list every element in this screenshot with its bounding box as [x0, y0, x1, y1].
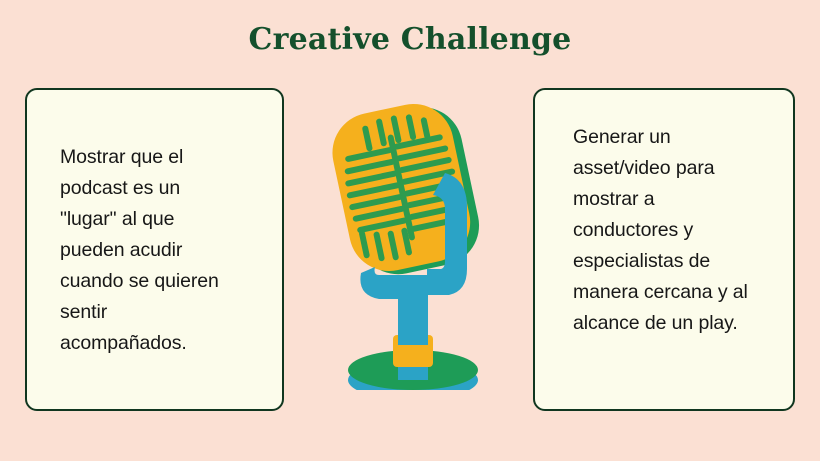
page-title: Creative Challenge [0, 22, 820, 57]
microphone-icon [325, 95, 500, 390]
challenge-card-right: Generar un asset/video para mostrar a co… [533, 88, 795, 411]
microphone-illustration [325, 95, 500, 390]
challenge-card-right-text: Generar un asset/video para mostrar a co… [573, 122, 753, 339]
challenge-card-left-text: Mostrar que el podcast es un "lugar" al … [60, 142, 235, 359]
challenge-card-left: Mostrar que el podcast es un "lugar" al … [25, 88, 284, 411]
slide-canvas: Creative Challenge Mostrar que el podcas… [0, 0, 820, 461]
